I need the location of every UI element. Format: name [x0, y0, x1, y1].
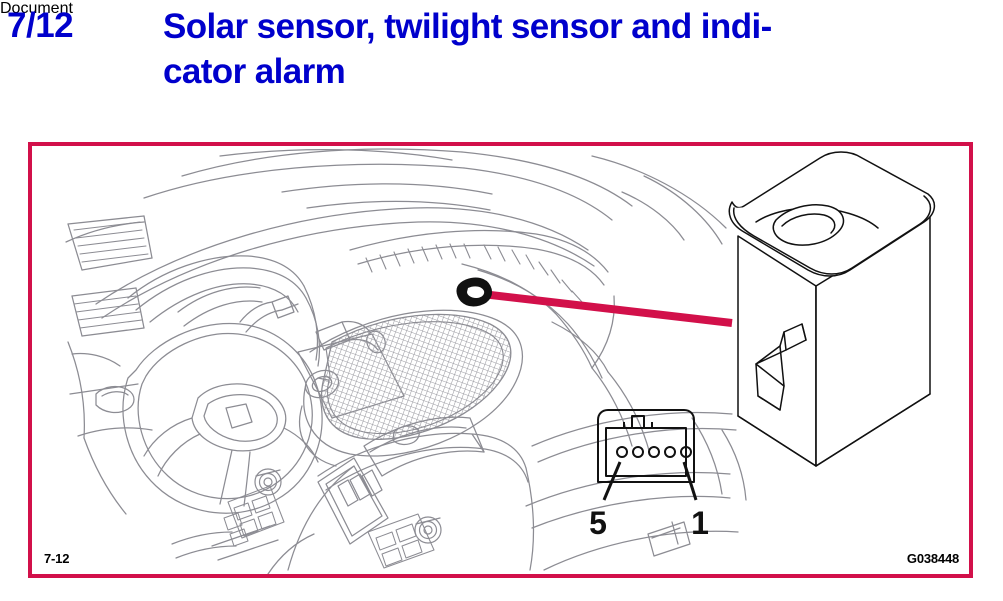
figure-page-number: 7-12: [44, 551, 69, 566]
document-header: 7/12 Solar sensor, twilight sensor and i…: [0, 0, 1003, 130]
figure-code: G038448: [907, 551, 959, 566]
solar-twilight-sensor-module: [729, 152, 934, 466]
connector-pin-label-5: 5: [589, 505, 607, 541]
connector-5-pin: [598, 410, 696, 500]
figure-illustration: 5 1: [32, 146, 969, 574]
solar-twilight-sensor-location-marker: [457, 278, 492, 306]
page-reference: 7/12: [7, 4, 73, 48]
figure-frame: 5 1 7-12 G038448: [28, 142, 973, 578]
page-title: Solar sensor, twilight sensor and indi- …: [163, 4, 1003, 94]
connector-pin-label-1: 1: [691, 505, 709, 541]
dashboard-line-art: [66, 149, 746, 574]
page-title-line-2: cator alarm: [163, 49, 1003, 94]
connector-pins: [617, 447, 691, 457]
page-title-line-1: Solar sensor, twilight sensor and indi-: [163, 4, 1003, 49]
sensor-pointer-line: [482, 294, 732, 323]
